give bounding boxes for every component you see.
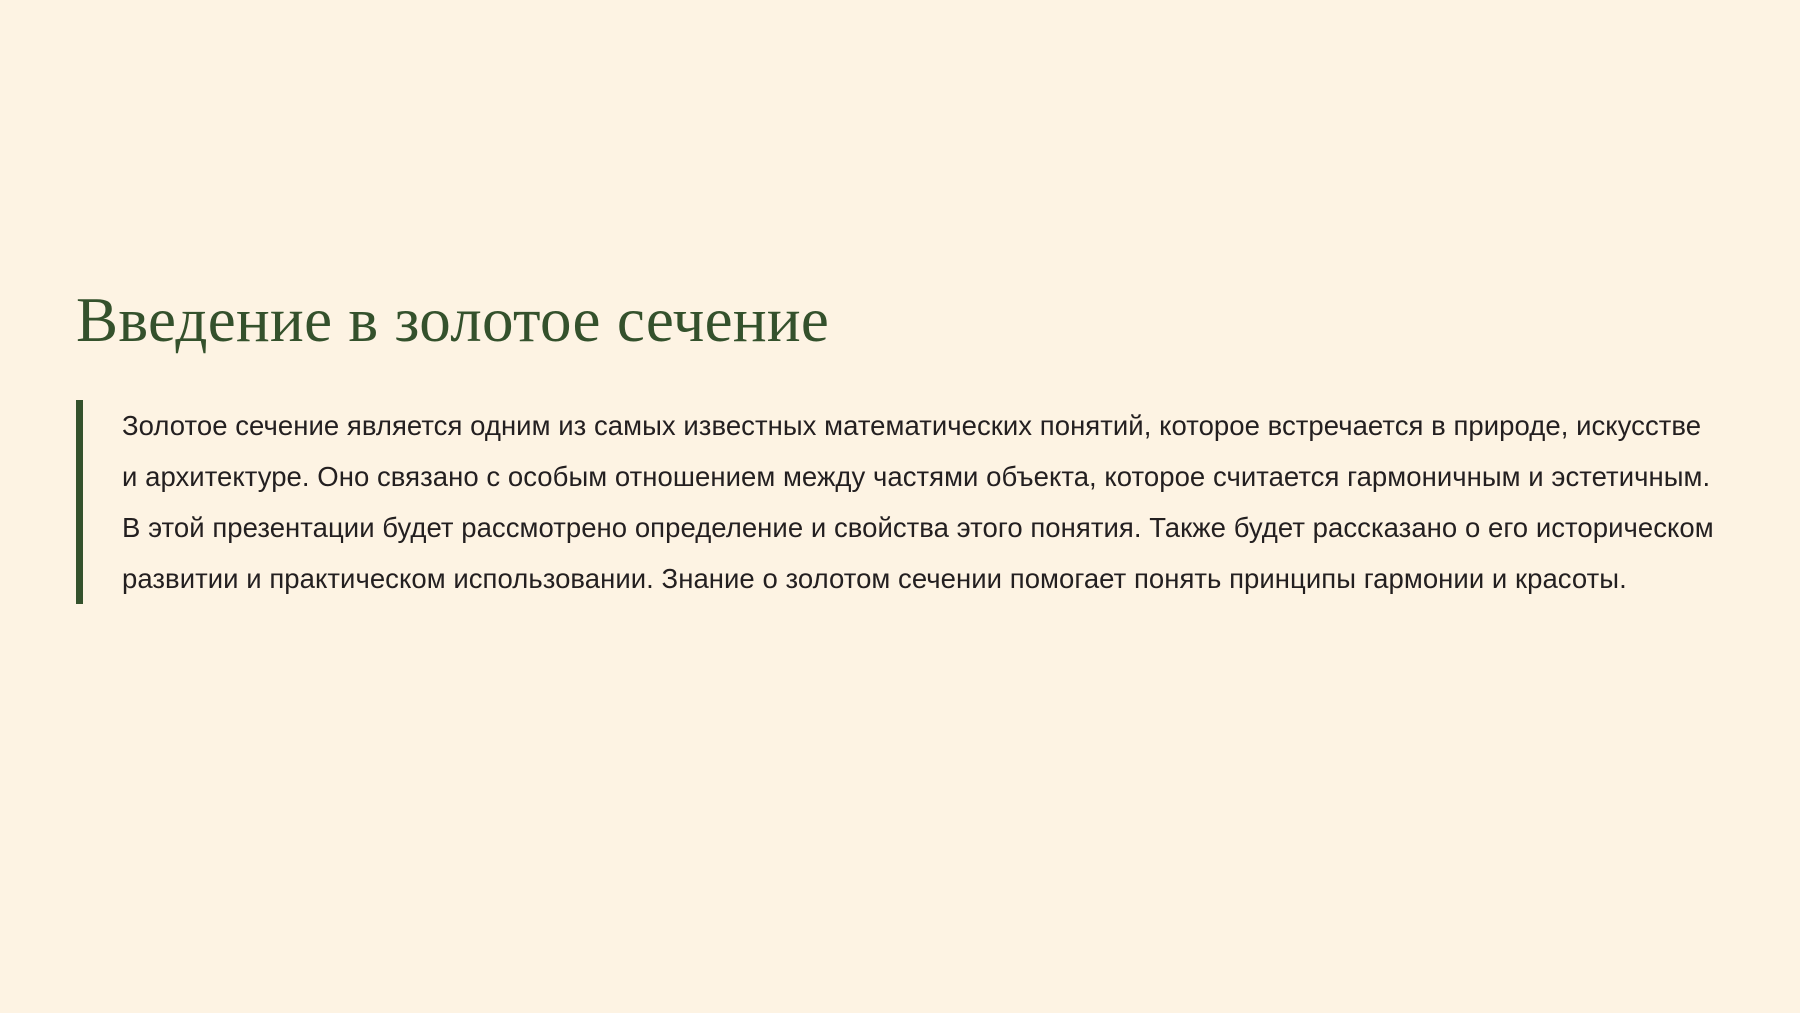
presentation-slide: Введение в золотое сечение Золотое сечен… [0,0,1800,1013]
body-paragraph: Золотое сечение является одним из самых … [122,400,1716,604]
body-quote-block: Золотое сечение является одним из самых … [76,400,1716,604]
accent-bar [76,400,83,604]
page-title: Введение в золотое сечение [76,283,1716,357]
slide-content: Введение в золотое сечение Золотое сечен… [76,283,1716,604]
